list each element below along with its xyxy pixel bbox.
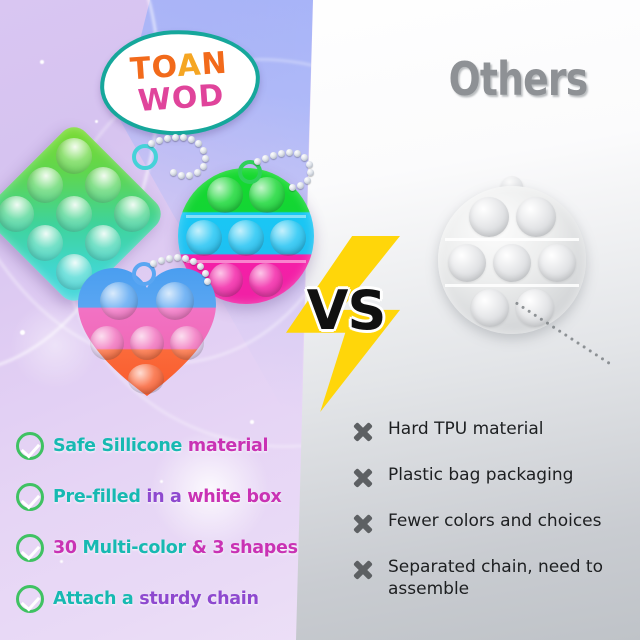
feature-text: Attach a sturdy chain (53, 589, 259, 609)
drawback-text: Fewer colors and choices (388, 510, 601, 532)
pop-bubble (170, 326, 204, 360)
brand-feature-list: Safe Sillicone material Pre-filled in a … (16, 420, 306, 624)
feature-row: Attach a sturdy chain (16, 573, 306, 624)
pop-bubble (471, 289, 509, 327)
drawback-row: Fewer colors and choices (352, 510, 628, 535)
pop-bubble (156, 282, 194, 320)
feature-segment: material (188, 436, 268, 456)
logo-letter-a: A (176, 47, 203, 84)
drawback-text: Separated chain, need to assemble (388, 556, 628, 600)
drawback-row: Separated chain, need to assemble (352, 556, 628, 600)
feature-segment: 30 (53, 538, 83, 558)
feature-row: Pre-filled in a white box (16, 471, 306, 522)
check-circle-icon (16, 483, 44, 511)
feature-row: Safe Sillicone material (16, 420, 306, 471)
pop-bubble (90, 326, 124, 360)
heart-pop-it-toy (78, 268, 216, 398)
x-mark-icon (352, 421, 374, 443)
comparison-infographic: TOAN WOD (0, 0, 640, 640)
feature-segment: Attach a (53, 589, 139, 609)
pop-bubble (469, 197, 509, 237)
check-circle-icon (16, 534, 44, 562)
x-mark-icon (352, 559, 374, 581)
feature-segment: white box (187, 487, 281, 507)
others-feature-list: Hard TPU material Plastic bag packaging … (352, 418, 628, 621)
pop-bubble (207, 177, 243, 213)
pop-bubble (128, 364, 164, 394)
pop-bubble (100, 282, 138, 320)
pop-bubble (186, 220, 222, 256)
feature-segment: in a (146, 487, 187, 507)
pop-bubble (448, 244, 486, 282)
bubble-row-blue (178, 218, 314, 258)
pop-bubble (130, 326, 164, 360)
pop-bubble (270, 220, 306, 256)
logo-word-wod: WOD (137, 77, 226, 118)
sparkle-dot (40, 60, 44, 64)
drawback-row: Plastic bag packaging (352, 464, 628, 489)
toy-divider (445, 238, 578, 241)
feature-segment: & 3 shapes (192, 538, 298, 558)
sparkle-dot (95, 120, 98, 123)
bubble-row (438, 196, 586, 238)
feature-segment: Safe Sillicone (53, 436, 188, 456)
vs-label: VS (296, 280, 396, 342)
logo-letter-n: N (200, 45, 228, 82)
feature-text: Pre-filled in a white box (53, 487, 281, 507)
heart-bubbles (78, 268, 216, 398)
pop-bubble (228, 220, 264, 256)
others-heading: Others (420, 52, 617, 106)
feature-text: 30 Multi-color & 3 shapes (53, 538, 298, 558)
drawback-text: Plastic bag packaging (388, 464, 573, 486)
drawback-text: Hard TPU material (388, 418, 544, 440)
x-mark-icon (352, 513, 374, 535)
pop-bubble (538, 244, 576, 282)
toy-divider (445, 284, 578, 287)
bubble-row (438, 242, 586, 284)
sparkle-dot (20, 330, 25, 335)
check-circle-icon (16, 432, 44, 460)
feature-text: Safe Sillicone material (53, 436, 268, 456)
drawback-row: Hard TPU material (352, 418, 628, 443)
pop-bubble (249, 263, 283, 297)
toy-hanging-tab (132, 144, 158, 170)
logo-wordmark: TOAN WOD (97, 25, 264, 141)
brand-logo: TOAN WOD (100, 30, 260, 135)
x-mark-icon (352, 467, 374, 489)
pop-bubble (516, 197, 556, 237)
feature-segment: sturdy chain (139, 589, 258, 609)
check-circle-icon (16, 585, 44, 613)
feature-segment: Pre-filled (53, 487, 146, 507)
feature-row: 30 Multi-color & 3 shapes (16, 522, 306, 573)
feature-segment: Multi-color (83, 538, 192, 558)
pop-bubble (493, 244, 531, 282)
